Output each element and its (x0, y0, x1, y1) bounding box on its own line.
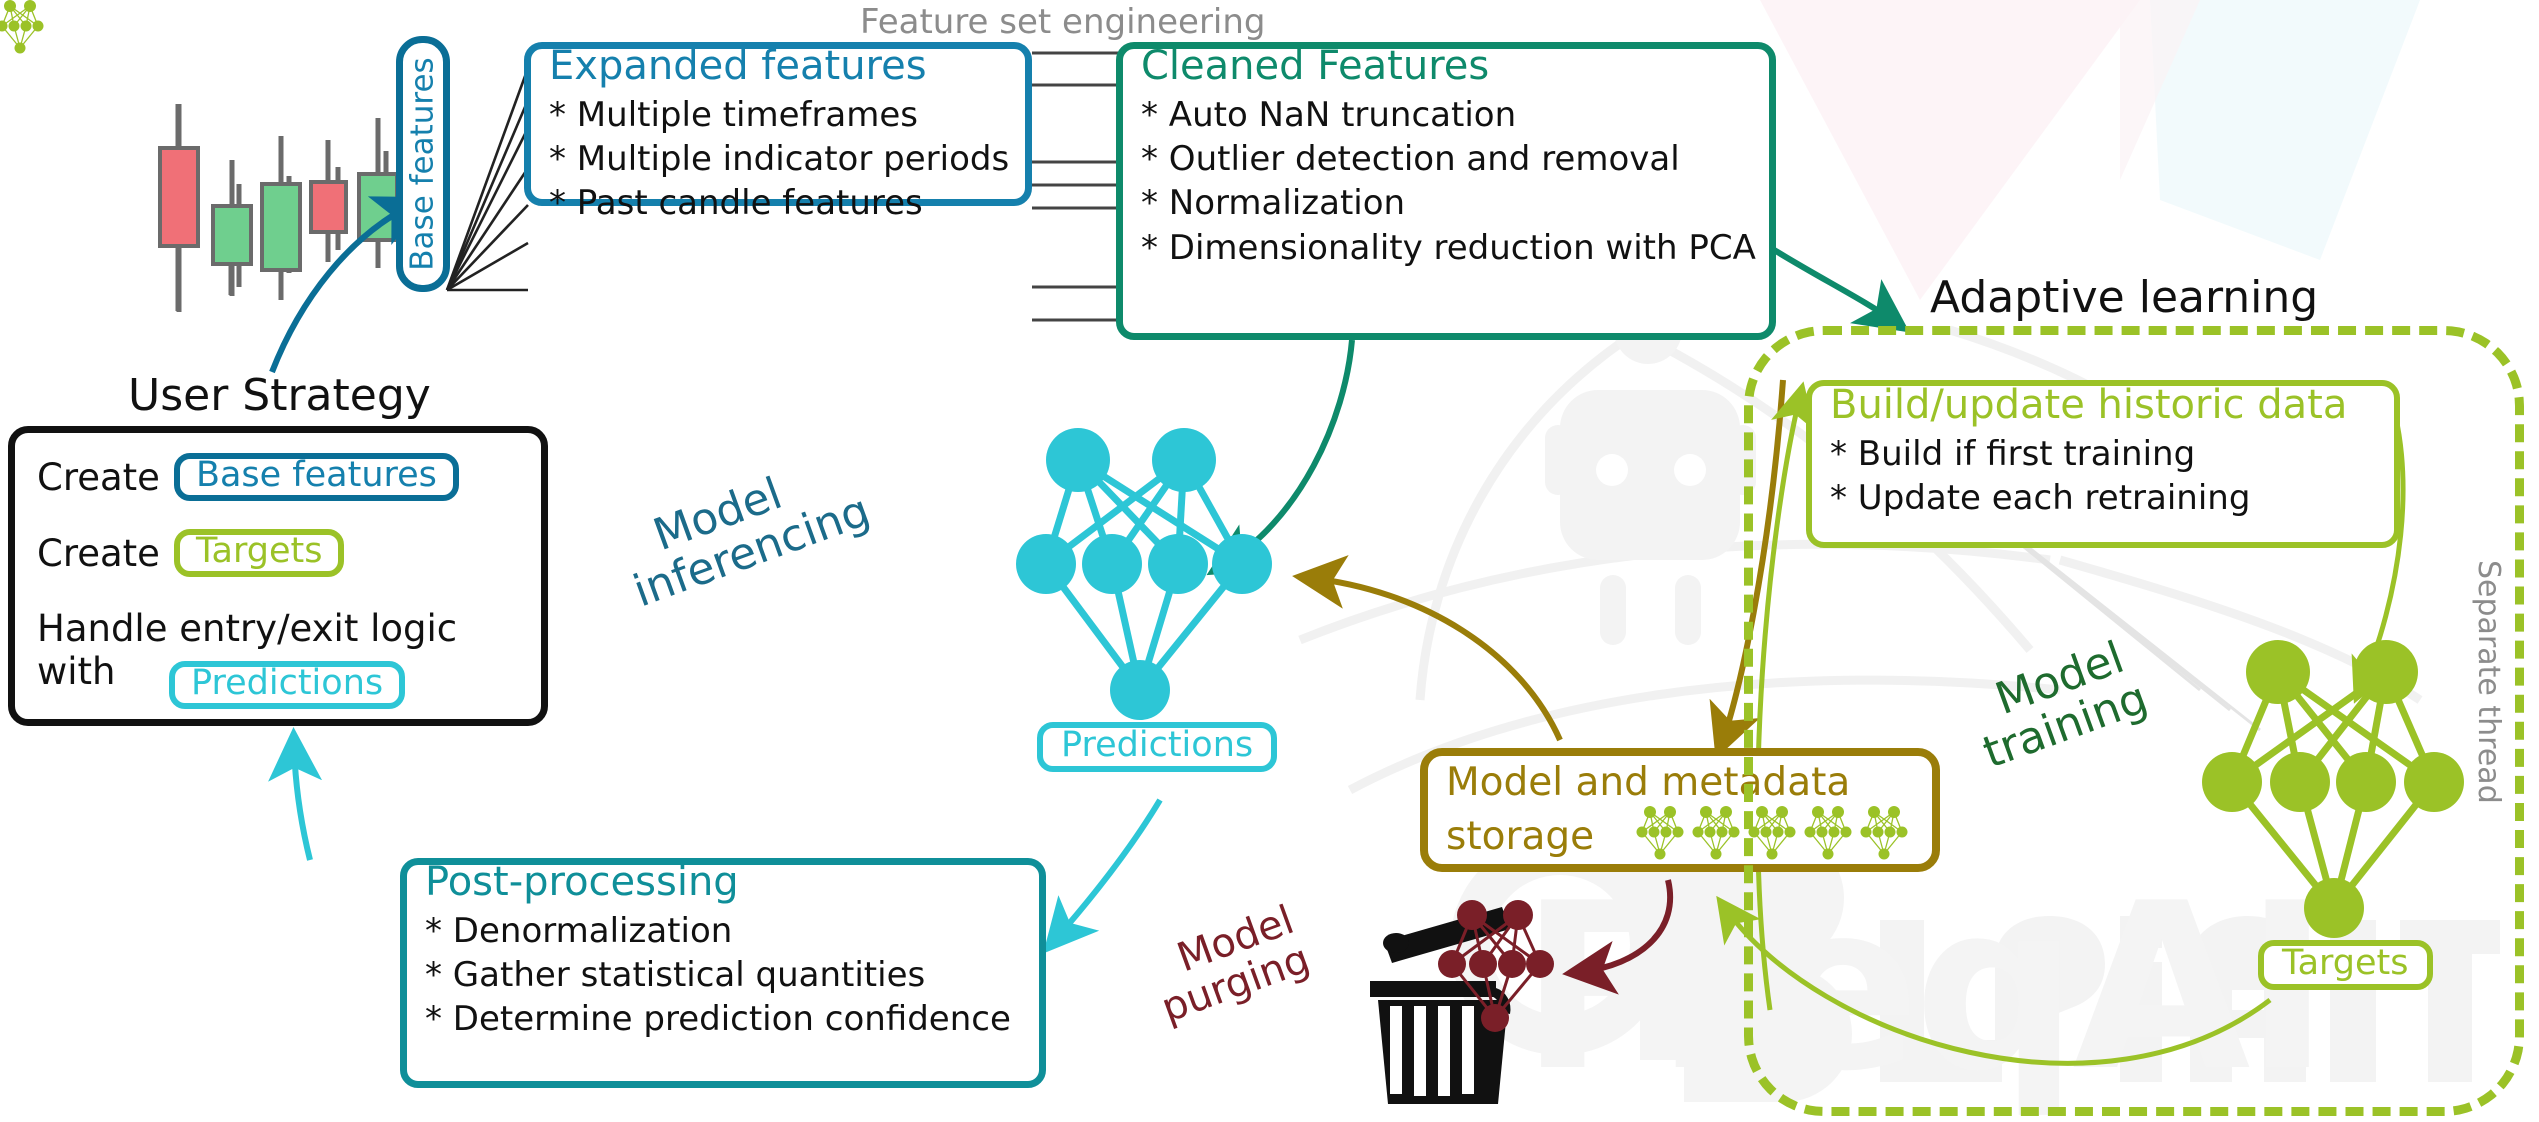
targets-output-badge[interactable]: Targets (2258, 940, 2433, 990)
neural-network-icon-training (0, 0, 2539, 1104)
diagram-canvas: FreqAI (0, 0, 2539, 1104)
